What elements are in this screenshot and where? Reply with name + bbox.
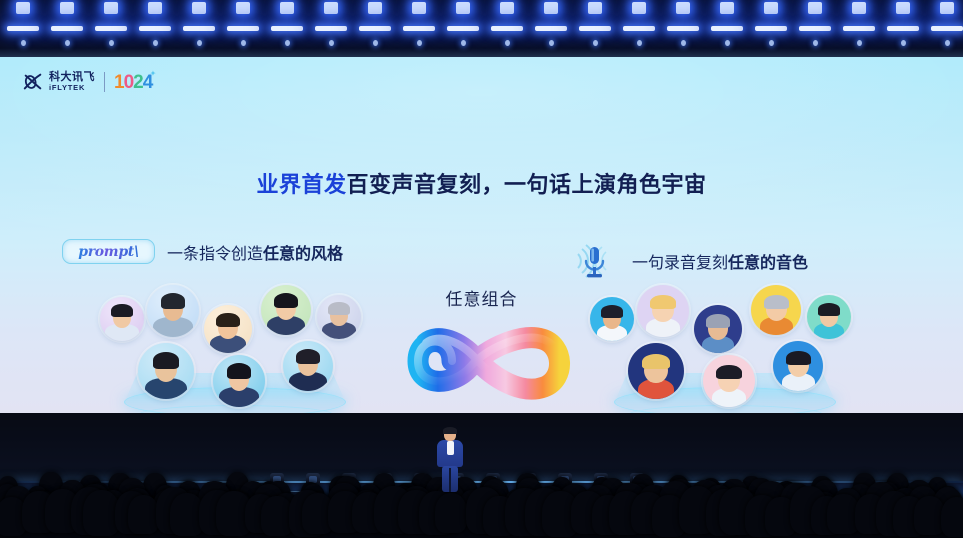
right-heading-bold: 任意的音色 <box>728 255 808 272</box>
avatar <box>751 285 801 335</box>
avatar <box>637 285 689 337</box>
avatar <box>773 341 823 391</box>
prompt-badge: prompt\ <box>62 239 155 264</box>
left-section-header: prompt\ 一条指令创造任意的风格 <box>62 239 343 264</box>
stage-speaker-person <box>432 428 468 492</box>
prompt-badge-label: prompt\ <box>78 244 139 260</box>
event-digit-2: 2 <box>133 73 143 92</box>
avatar <box>703 355 755 407</box>
avatar <box>147 285 199 337</box>
infinity-symbol-icon <box>398 309 580 413</box>
audience-head <box>83 490 120 536</box>
voice-avatar-cluster <box>588 283 863 413</box>
avatar <box>100 297 144 341</box>
right-heading-plain: 一句录音复刻 <box>632 255 728 272</box>
event-1024-logo: 1 0 2 4 ✦ <box>114 73 152 92</box>
slide-title-rest: 百变声音复刻，一句话上演角色宇宙 <box>347 172 707 197</box>
event-digit-1: 1 <box>114 73 124 92</box>
left-heading-plain: 一条指令创造 <box>167 246 263 263</box>
avatar <box>694 305 742 353</box>
conference-stage-photo: 科大讯飞 iFLYTEK 1 0 2 4 ✦ 业界首发百变声音复刻，一句话上演角… <box>0 0 963 538</box>
iflytek-name-en: iFLYTEK <box>49 84 95 92</box>
avatar <box>204 305 252 353</box>
stage-lighting-truss <box>0 0 963 58</box>
audience-head <box>941 497 963 537</box>
logo-divider <box>104 72 105 92</box>
right-section-header: 一句录音复刻任意的音色 <box>568 235 808 287</box>
event-digit-0: 0 <box>124 73 134 92</box>
avatar <box>213 355 265 407</box>
audience-head <box>128 495 159 534</box>
iflytek-name-cn: 科大讯飞 <box>49 72 95 83</box>
avatar <box>590 297 634 341</box>
presentation-slide: 科大讯飞 iFLYTEK 1 0 2 4 ✦ 业界首发百变声音复刻，一句话上演角… <box>0 57 963 413</box>
audience-head <box>435 493 467 533</box>
venue-stage-area: iFLYTEK <box>0 413 963 538</box>
avatar <box>261 285 311 335</box>
iflytek-logo: 科大讯飞 iFLYTEK <box>22 71 95 93</box>
right-section-heading: 一句录音复刻任意的音色 <box>632 249 808 273</box>
audience-head <box>914 496 945 535</box>
slide-title-highlight: 业界首发 <box>256 172 346 197</box>
iflytek-mark-icon <box>22 71 44 93</box>
slide-title: 业界首发百变声音复刻，一句话上演角色宇宙 <box>0 167 963 199</box>
avatar <box>138 343 194 399</box>
sparkle-icon: ✦ <box>150 69 157 78</box>
slide-branding: 科大讯飞 iFLYTEK 1 0 2 4 ✦ <box>22 71 152 93</box>
style-avatar-cluster <box>98 283 373 413</box>
microphone-icon <box>568 235 620 287</box>
avatar <box>317 295 361 339</box>
audience-silhouettes <box>0 480 963 538</box>
avatar <box>283 341 333 391</box>
left-section-heading: 一条指令创造任意的风格 <box>167 240 343 264</box>
avatar <box>807 295 851 339</box>
left-heading-bold: 任意的风格 <box>263 246 343 263</box>
avatar <box>628 343 684 399</box>
